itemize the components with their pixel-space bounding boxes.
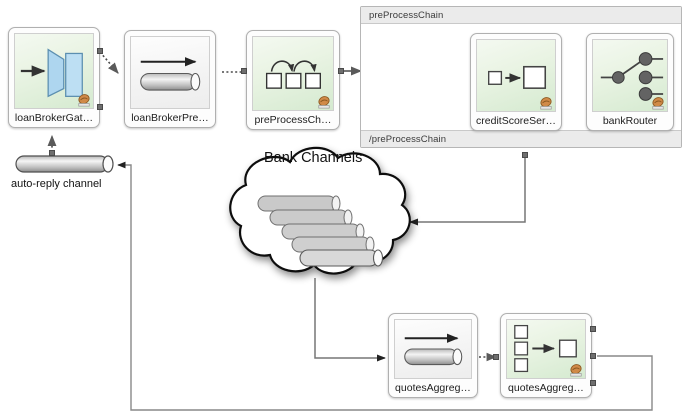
node-credit-score-service[interactable]: creditScoreSer… <box>470 33 562 131</box>
channel-pipe-icon <box>395 320 471 378</box>
node-figure <box>14 33 94 109</box>
node-label: creditScoreSer… <box>476 112 556 130</box>
node-label: quotesAggreg… <box>395 379 471 397</box>
anchor-aggregator-channel-in[interactable] <box>493 354 499 360</box>
group-header-label: preProcessChain <box>361 7 681 24</box>
node-figure <box>476 39 556 112</box>
node-figure <box>130 36 210 109</box>
node-figure <box>394 319 472 379</box>
diagram-canvas: preProcessChain /preProcessChain loanBro… <box>0 0 688 419</box>
group-footer-label: /preProcessChain <box>361 130 681 147</box>
bean-badge-icon <box>539 96 553 110</box>
node-bank-router[interactable]: bankRouter <box>586 33 674 131</box>
anchor-auto-reply-top[interactable] <box>49 150 55 156</box>
channel-pipe-icon <box>131 37 209 108</box>
bank-channels-title: Bank Channels <box>264 150 362 166</box>
node-label: preProcessCh… <box>254 111 331 129</box>
anchor-gateway-right-top[interactable] <box>97 48 103 54</box>
node-label: bankRouter <box>603 112 657 130</box>
auto-reply-channel-label: auto-reply channel <box>11 178 102 190</box>
anchor-gateway-right-bottom[interactable] <box>97 104 103 110</box>
anchor-preprocess-left[interactable] <box>241 68 247 74</box>
bean-badge-icon <box>317 95 331 109</box>
node-label: quotesAggreg… <box>508 379 584 397</box>
auto-reply-channel-shape[interactable] <box>14 152 118 176</box>
node-loanbroker-gateway[interactable]: loanBrokerGat… <box>8 27 100 128</box>
node-loanbroker-pre[interactable]: loanBrokerPre… <box>124 30 216 128</box>
anchor-aggregator-right-bottom[interactable] <box>590 380 596 386</box>
edge-group-to-cloud <box>410 158 525 222</box>
node-label: loanBrokerPre… <box>131 109 209 127</box>
node-quotes-aggregator[interactable]: quotesAggreg… <box>500 313 592 398</box>
node-quotes-aggregator-channel[interactable]: quotesAggreg… <box>388 313 478 398</box>
cloud-pipe-stack <box>258 196 383 266</box>
bank-channels-cloud <box>230 148 410 274</box>
anchor-preprocess-right[interactable] <box>338 68 344 74</box>
channel-pipe-icon <box>14 152 118 176</box>
node-preprocess-chain[interactable]: preProcessCh… <box>246 30 340 130</box>
node-figure <box>592 39 668 112</box>
anchor-aggregator-right-mid[interactable] <box>590 353 596 359</box>
edge-cloud-to-quotesAggregatorChannel <box>315 278 385 358</box>
node-figure <box>506 319 586 379</box>
node-figure <box>252 36 334 111</box>
bean-badge-icon <box>569 363 583 377</box>
node-label: loanBrokerGat… <box>15 109 93 127</box>
bean-badge-icon <box>77 93 91 107</box>
anchor-aggregator-right-top[interactable] <box>590 326 596 332</box>
anchor-group-bottom[interactable] <box>522 152 528 158</box>
bean-badge-icon <box>651 96 665 110</box>
edge-gateway-to-loanBrokerPre <box>100 52 118 73</box>
